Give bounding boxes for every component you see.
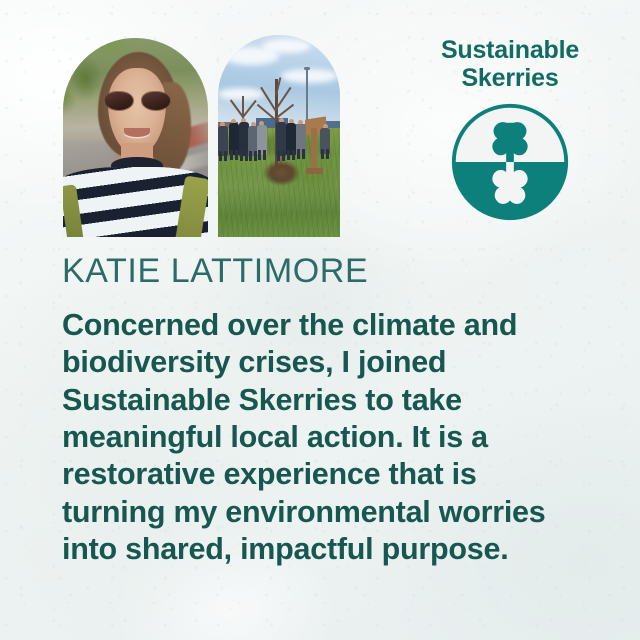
tree-planting-event-photo <box>218 35 340 237</box>
portrait-photo <box>63 38 208 237</box>
sunglasses-left-lens <box>105 92 133 110</box>
spiral-tree-circle-logo <box>410 103 610 221</box>
testimonial-poster: Sustainable Skerries <box>0 0 640 640</box>
event-photo-illustration <box>218 35 340 237</box>
event-crowd <box>218 35 340 237</box>
sunglasses-icon <box>105 92 170 110</box>
portrait-photo-illustration <box>63 38 208 237</box>
brand-wordmark: Sustainable Skerries <box>410 36 610 93</box>
brand-wordmark-line1: Sustainable <box>410 36 610 64</box>
sunglasses-right-lens <box>142 92 170 110</box>
page-title: KATIE LATTIMORE <box>62 252 368 291</box>
brand-logo-block[interactable]: Sustainable Skerries <box>410 36 610 221</box>
brand-wordmark-line2: Skerries <box>410 64 610 92</box>
testimonial-quote: Concerned over the climate and biodivers… <box>62 307 582 569</box>
